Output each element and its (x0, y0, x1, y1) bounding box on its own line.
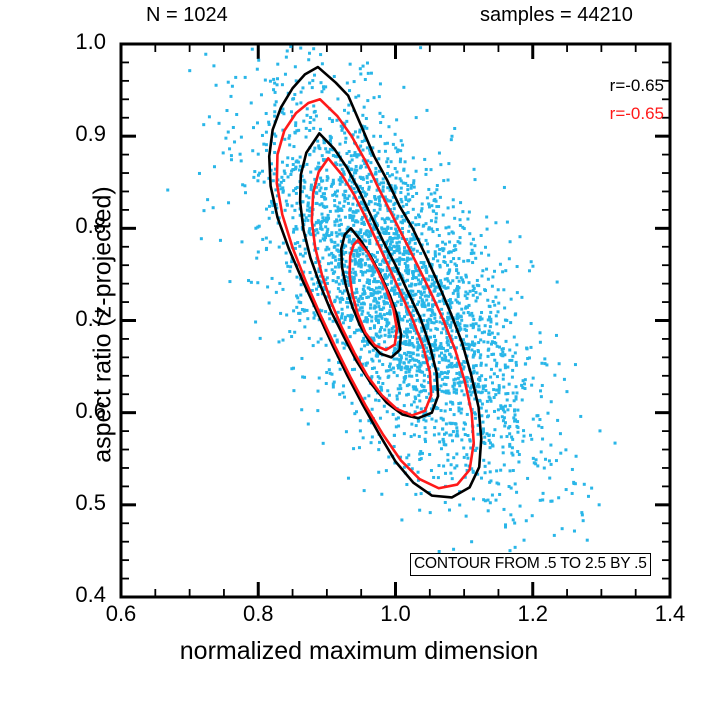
scatter-point (420, 330, 423, 333)
scatter-point (338, 201, 341, 204)
scatter-point (268, 301, 271, 304)
scatter-point (467, 347, 470, 350)
scatter-point (487, 509, 490, 512)
scatter-point (299, 156, 302, 159)
scatter-point (298, 245, 301, 248)
scatter-point (582, 519, 585, 522)
scatter-point (382, 181, 385, 184)
scatter-point (269, 241, 272, 244)
scatter-point (498, 384, 501, 387)
scatter-point (410, 375, 413, 378)
scatter-point (477, 341, 480, 344)
scatter-point (336, 296, 339, 299)
scatter-point (462, 446, 465, 449)
scatter-point (418, 509, 421, 512)
scatter-point (489, 446, 492, 449)
scatter-point (357, 154, 360, 157)
scatter-point (312, 311, 315, 314)
scatter-point (256, 281, 259, 284)
scatter-point (488, 461, 491, 464)
scatter-point (318, 221, 321, 224)
scatter-point (380, 308, 383, 311)
scatter-point (440, 308, 443, 311)
scatter-point (414, 319, 417, 322)
scatter-point (326, 246, 329, 249)
scatter-point (275, 291, 278, 294)
scatter-point (468, 438, 471, 441)
scatter-point (346, 82, 349, 85)
scatter-point (397, 278, 400, 281)
scatter-point (399, 158, 402, 161)
scatter-point (479, 364, 482, 367)
scatter-point (288, 270, 291, 273)
scatter-point (452, 198, 455, 201)
scatter-point (510, 436, 513, 439)
scatter-point (359, 67, 362, 70)
scatter-point (257, 250, 260, 253)
scatter-point (385, 230, 388, 233)
scatter-point (402, 86, 405, 89)
scatter-point (328, 368, 331, 371)
scatter-point (427, 278, 430, 281)
scatter-point (268, 123, 271, 126)
scatter-point (342, 193, 345, 196)
scatter-point (423, 287, 426, 290)
scatter-point (493, 359, 496, 362)
scatter-point (441, 247, 444, 250)
scatter-point (452, 232, 455, 235)
y-tick-label: 0.7 (36, 306, 106, 332)
scatter-point (347, 314, 350, 317)
scatter-point (341, 180, 344, 183)
scatter-point (466, 259, 469, 262)
scatter-point (359, 72, 362, 75)
scatter-point (487, 348, 490, 351)
scatter-point (278, 282, 281, 285)
scatter-point (332, 256, 335, 259)
scatter-point (294, 121, 297, 124)
scatter-point (346, 197, 349, 200)
scatter-point (340, 232, 343, 235)
scatter-point (316, 293, 319, 296)
scatter-point (316, 166, 319, 169)
scatter-point (447, 359, 450, 362)
scatter-point (436, 184, 439, 187)
scatter-point (489, 325, 492, 328)
scatter-point (421, 371, 424, 374)
scatter-point (392, 367, 395, 370)
scatter-point (458, 241, 461, 244)
scatter-point (295, 192, 298, 195)
scatter-point (312, 47, 315, 50)
scatter-point (489, 470, 492, 473)
scatter-point (369, 307, 372, 310)
scatter-point (334, 299, 337, 302)
scatter-point (516, 426, 519, 429)
scatter-point (348, 194, 351, 197)
x-tick-label: 1.0 (356, 601, 436, 627)
scatter-point (400, 139, 403, 142)
scatter-point (423, 379, 426, 382)
scatter-point (399, 283, 402, 286)
scatter-point (523, 435, 526, 438)
scatter-point (344, 137, 347, 140)
scatter-point (410, 238, 413, 241)
scatter-point (535, 458, 538, 461)
scatter-point (379, 263, 382, 266)
scatter-point (374, 298, 377, 301)
scatter-point (251, 149, 254, 152)
scatter-point (294, 65, 297, 68)
scatter-point (433, 426, 436, 429)
scatter-point (315, 114, 318, 117)
scatter-point (361, 293, 364, 296)
scatter-point (400, 179, 403, 182)
scatter-point (424, 431, 427, 434)
scatter-point (282, 179, 285, 182)
scatter-point (412, 179, 415, 182)
scatter-point (310, 184, 313, 187)
scatter-point (442, 347, 445, 350)
scatter-point (435, 212, 438, 215)
scatter-point (339, 164, 342, 167)
scatter-point (396, 150, 399, 153)
scatter-point (511, 369, 514, 372)
scatter-point (430, 321, 433, 324)
scatter-point (371, 367, 374, 370)
scatter-point (519, 505, 522, 508)
scatter-point (516, 431, 519, 434)
scatter-point (287, 137, 290, 140)
scatter-point (515, 364, 518, 367)
scatter-point (447, 162, 450, 165)
scatter-point (353, 171, 356, 174)
scatter-point (212, 206, 215, 209)
scatter-point (286, 49, 289, 52)
scatter-point (335, 218, 338, 221)
scatter-point (434, 339, 437, 342)
scatter-point (419, 252, 422, 255)
scatter-point (434, 286, 437, 289)
scatter-point (511, 355, 514, 358)
scatter-point (383, 340, 386, 343)
scatter-point (391, 237, 394, 240)
scatter-point (396, 364, 399, 367)
scatter-point (290, 335, 293, 338)
scatter-point (290, 110, 293, 113)
scatter-point (501, 270, 504, 273)
scatter-point (402, 381, 405, 384)
x-tick-label: 0.8 (218, 601, 298, 627)
scatter-point (493, 270, 496, 273)
scatter-point (287, 175, 290, 178)
scatter-point (361, 310, 364, 313)
scatter-point (303, 308, 306, 311)
scatter-point (353, 168, 356, 171)
scatter-point (452, 249, 455, 252)
scatter-point (530, 322, 533, 325)
scatter-point (404, 371, 407, 374)
scatter-point (395, 186, 398, 189)
scatter-point (379, 82, 382, 85)
scatter-point (319, 177, 322, 180)
scatter-point (398, 257, 401, 260)
scatter-point (447, 370, 450, 373)
scatter-point (509, 549, 512, 552)
scatter-point (286, 265, 289, 268)
scatter-point (353, 331, 356, 334)
scatter-point (463, 456, 466, 459)
scatter-point (448, 392, 451, 395)
scatter-point (316, 140, 319, 143)
scatter-point (403, 404, 406, 407)
scatter-point (291, 157, 294, 160)
scatter-point (418, 435, 421, 438)
scatter-point (421, 354, 424, 357)
scatter-point (347, 202, 350, 205)
scatter-point (435, 320, 438, 323)
scatter-point (225, 109, 228, 112)
scatter-point (416, 250, 419, 253)
scatter-point (464, 464, 467, 467)
scatter-point (537, 424, 540, 427)
scatter-point (386, 226, 389, 229)
scatter-point (482, 385, 485, 388)
scatter-point (340, 297, 343, 300)
scatter-point (387, 256, 390, 259)
scatter-point (432, 476, 435, 479)
scatter-point (454, 299, 457, 302)
scatter-point (514, 351, 517, 354)
scatter-point (440, 447, 443, 450)
scatter-point (463, 227, 466, 230)
scatter-point (435, 217, 438, 220)
scatter-point (398, 392, 401, 395)
scatter-point (309, 121, 312, 124)
scatter-point (496, 310, 499, 313)
scatter-point (477, 350, 480, 353)
scatter-point (473, 342, 476, 345)
scatter-point (413, 345, 416, 348)
scatter-point (347, 477, 350, 480)
scatter-point (497, 302, 500, 305)
scatter-point (338, 224, 341, 227)
scatter-point (356, 254, 359, 257)
scatter-point (362, 288, 365, 291)
scatter-point (407, 351, 410, 354)
scatter-point (383, 328, 386, 331)
scatter-point (333, 199, 336, 202)
scatter-point (439, 345, 442, 348)
scatter-point (444, 243, 447, 246)
scatter-point (333, 334, 336, 337)
scatter-point (418, 391, 421, 394)
y-tick-label: 0.4 (36, 582, 106, 608)
scatter-point (342, 205, 345, 208)
scatter-point (559, 432, 562, 435)
x-tick-label: 1.2 (493, 601, 573, 627)
scatter-point (502, 373, 505, 376)
scatter-point (344, 318, 347, 321)
scatter-point (460, 438, 463, 441)
scatter-point (482, 427, 485, 430)
scatter-point (340, 129, 343, 132)
scatter-point (377, 196, 380, 199)
scatter-point (319, 128, 322, 131)
scatter-point (362, 340, 365, 343)
scatter-point (463, 393, 466, 396)
scatter-point (474, 417, 477, 420)
scatter-point (472, 294, 475, 297)
scatter-point (320, 180, 323, 183)
scatter-point (583, 483, 586, 486)
scatter-point (342, 321, 345, 324)
scatter-point (563, 378, 566, 381)
scatter-point (530, 260, 533, 263)
scatter-point (362, 302, 365, 305)
scatter-point (378, 95, 381, 98)
scatter-point (360, 374, 363, 377)
scatter-point (453, 127, 456, 130)
scatter-point (352, 224, 355, 227)
scatter-point (416, 341, 419, 344)
scatter-point (276, 77, 279, 80)
scatter-point (514, 482, 517, 485)
scatter-point (292, 309, 295, 312)
scatter-point (489, 311, 492, 314)
scatter-point (420, 232, 423, 235)
scatter-point (437, 464, 440, 467)
scatter-point (364, 78, 367, 81)
scatter-point (263, 181, 266, 184)
scatter-point (470, 393, 473, 396)
scatter-point (292, 228, 295, 231)
scatter-point (339, 219, 342, 222)
scatter-point (414, 387, 417, 390)
scatter-point (282, 189, 285, 192)
scatter-point (300, 91, 303, 94)
scatter-point (320, 90, 323, 93)
scatter-point (413, 364, 416, 367)
scatter-point (538, 418, 541, 421)
scatter-point (304, 252, 307, 255)
scatter-point (419, 291, 422, 294)
scatter-point (420, 261, 423, 264)
scatter-point (403, 249, 406, 252)
scatter-point (451, 477, 454, 480)
scatter-point (420, 492, 423, 495)
scatter-point (459, 218, 462, 221)
scatter-point (433, 317, 436, 320)
scatter-point (265, 112, 268, 115)
scatter-point (379, 121, 382, 124)
scatter-point (272, 78, 275, 81)
scatter-point (326, 230, 329, 233)
scatter-point (475, 299, 478, 302)
scatter-point (446, 264, 449, 267)
scatter-point (466, 434, 469, 437)
scatter-point (504, 405, 507, 408)
x-tick-label: 1.4 (630, 601, 710, 627)
scatter-point (487, 278, 490, 281)
scatter-point (371, 360, 374, 363)
scatter-point (489, 376, 492, 379)
scatter-point (509, 513, 512, 516)
scatter-point (371, 408, 374, 411)
scatter-point (452, 430, 455, 433)
scatter-point (370, 316, 373, 319)
scatter-point (504, 364, 507, 367)
scatter-point (363, 191, 366, 194)
scatter-point (521, 398, 524, 401)
scatter-point (410, 435, 413, 438)
scatter-point (387, 217, 390, 220)
scatter-point (557, 496, 560, 499)
scatter-point (466, 292, 469, 295)
scatter-point (455, 364, 458, 367)
scatter-point (373, 195, 376, 198)
scatter-point (421, 300, 424, 303)
scatter-point (265, 149, 268, 152)
scatter-point (481, 331, 484, 334)
scatter-point (450, 422, 453, 425)
scatter-point (399, 387, 402, 390)
scatter-point (308, 153, 311, 156)
scatter-point (487, 254, 490, 257)
scatter-point (349, 63, 352, 66)
scatter-point (543, 357, 546, 360)
scatter-point (550, 463, 553, 466)
scatter-point (412, 156, 415, 159)
scatter-point (420, 280, 423, 283)
scatter-point (306, 219, 309, 222)
scatter-point (296, 276, 299, 279)
scatter-point (239, 153, 242, 156)
scatter-point (373, 326, 376, 329)
scatter-point (395, 394, 398, 397)
scatter-point (414, 276, 417, 279)
scatter-point (530, 438, 533, 441)
scatter-point (224, 137, 227, 140)
scatter-point (375, 371, 378, 374)
scatter-point (297, 129, 300, 132)
scatter-point (405, 343, 408, 346)
scatter-point (405, 203, 408, 206)
scatter-point (457, 402, 460, 405)
scatter-point (400, 355, 403, 358)
scatter-point (403, 330, 406, 333)
scatter-point (485, 364, 488, 367)
scatter-point (414, 396, 417, 399)
scatter-point (273, 142, 276, 145)
scatter-point (400, 366, 403, 369)
scatter-point (274, 91, 277, 94)
scatter-point (480, 274, 483, 277)
scatter-point (400, 215, 403, 218)
scatter-point (355, 219, 358, 222)
scatter-point (522, 379, 525, 382)
scatter-point (438, 354, 441, 357)
scatter-point (341, 308, 344, 311)
scatter-point (458, 384, 461, 387)
scatter-point (443, 433, 446, 436)
scatter-point (418, 274, 421, 277)
scatter-point (490, 368, 493, 371)
scatter-point (438, 321, 441, 324)
scatter-point (329, 372, 332, 375)
scatter-point (512, 518, 515, 521)
scatter-point (390, 240, 393, 243)
